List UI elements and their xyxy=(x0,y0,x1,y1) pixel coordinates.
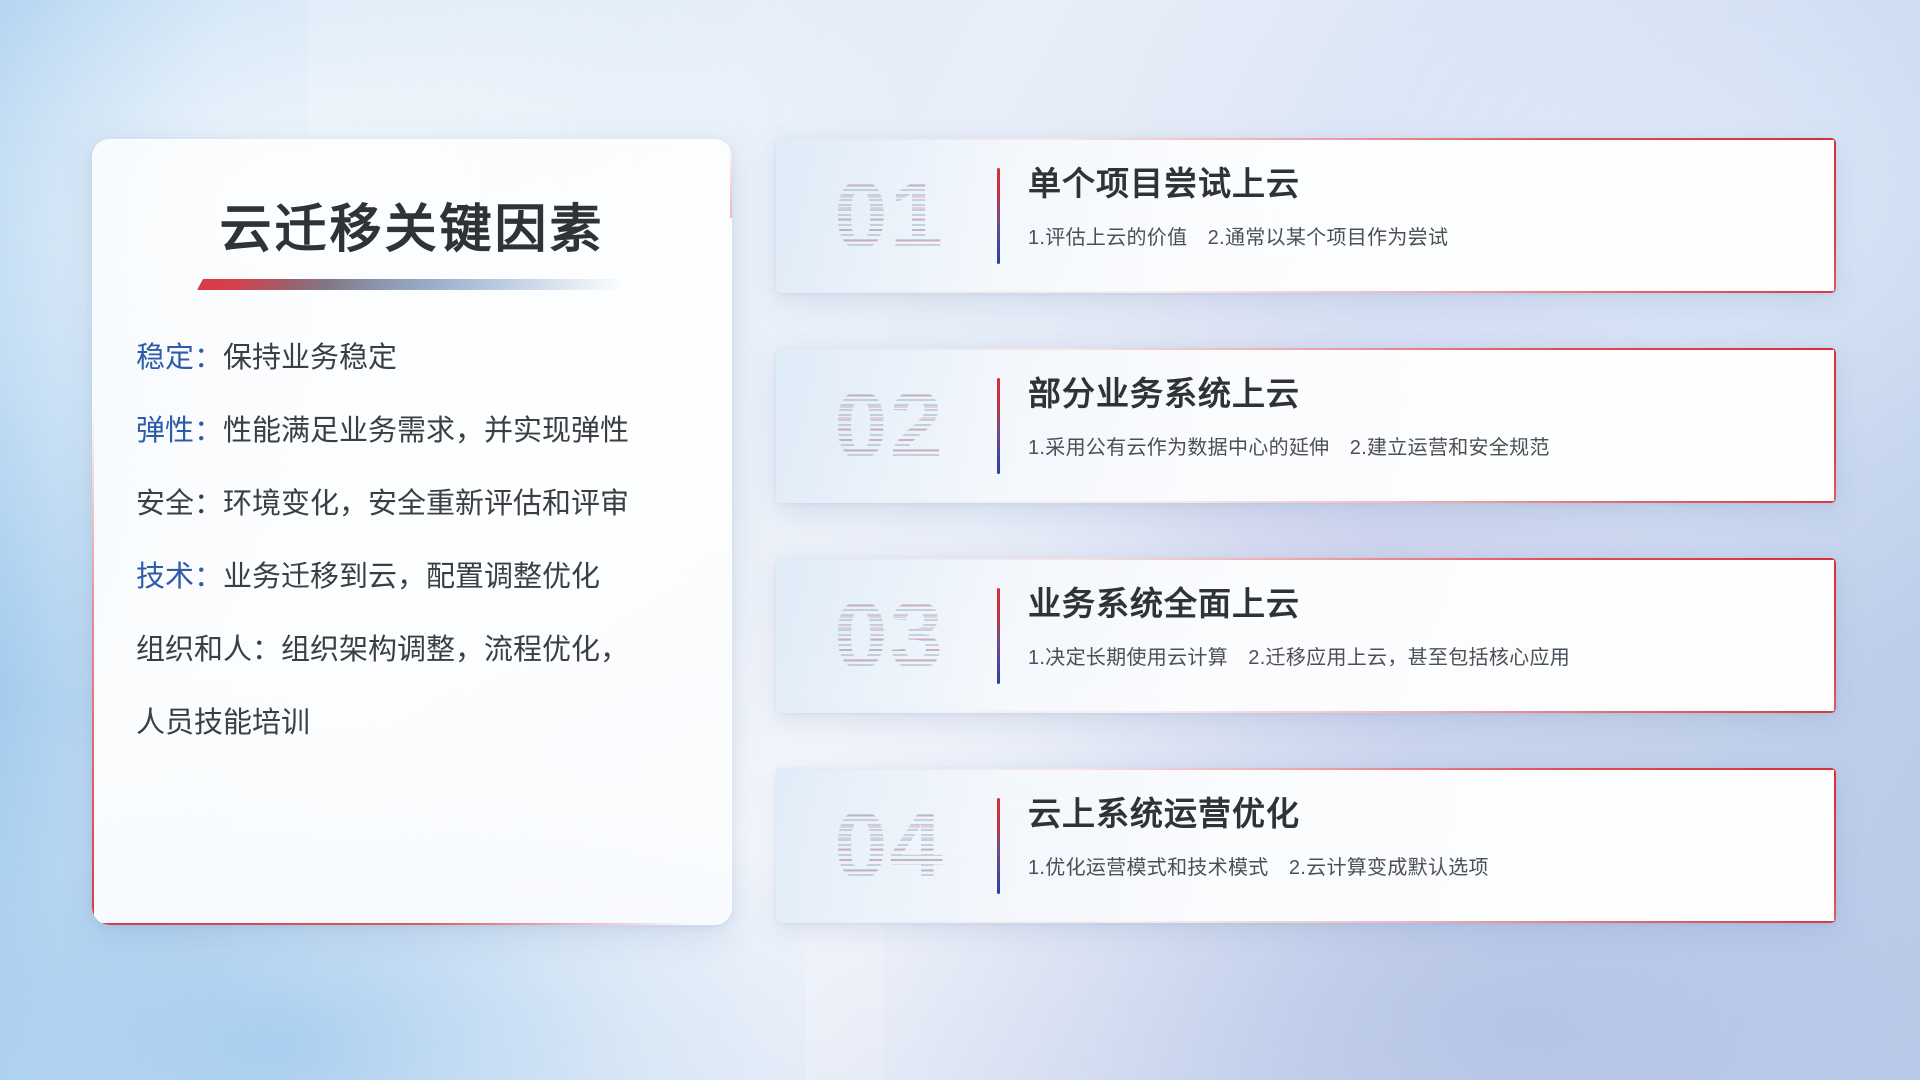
stage-card[interactable]: 04 04 云上系统运营优化 1.优化运营模式和技术模式 2.云计算变成默认选项 xyxy=(776,768,1836,923)
list-item-text: 人员技能培训 xyxy=(136,709,310,738)
card-gradient-divider xyxy=(997,168,1000,264)
card-red-top-edge xyxy=(776,768,1836,770)
migration-stage-cards: 01 01 单个项目尝试上云 1.评估上云的价值 2.通常以某个项目作为尝试 0… xyxy=(776,138,1836,923)
card-gradient-divider xyxy=(997,798,1000,894)
card-subtitle: 1.决定长期使用云计算 2.迁移应用上云，甚至包括核心应用 xyxy=(1028,641,1812,670)
card-red-right-edge xyxy=(1834,558,1836,713)
card-subtitle: 1.采用公有云作为数据中心的延伸 2.建立运营和安全规范 xyxy=(1028,431,1812,460)
card-red-top-edge xyxy=(776,558,1836,560)
list-item-text: 保持业务稳定 xyxy=(223,344,397,373)
title-gradient-underline xyxy=(197,279,627,290)
card-subtitle: 1.评估上云的价值 2.通常以某个项目作为尝试 xyxy=(1028,221,1812,250)
list-item-label: 安全： xyxy=(136,490,223,519)
list-item-text: 环境变化，安全重新评估和评审 xyxy=(223,490,629,519)
stage-number-ghost-red: 01 xyxy=(802,154,977,278)
list-item-label: 组织和人： xyxy=(136,636,281,665)
list-item-text: 性能满足业务需求，并实现弹性 xyxy=(223,417,629,446)
stage-number-ghost-red: 03 xyxy=(802,574,977,698)
list-item: 技术： 业务迁移到云，配置调整优化 xyxy=(136,563,688,636)
card-title: 云上系统运营优化 xyxy=(1028,794,1812,834)
card-title: 单个项目尝试上云 xyxy=(1028,164,1812,204)
card-body: 云上系统运营优化 1.优化运营模式和技术模式 2.云计算变成默认选项 xyxy=(1028,794,1812,880)
list-item: 安全： 环境变化，安全重新评估和评审 xyxy=(136,490,688,563)
card-gradient-divider xyxy=(997,588,1000,684)
stage-card[interactable]: 03 03 业务系统全面上云 1.决定长期使用云计算 2.迁移应用上云，甚至包括… xyxy=(776,558,1836,713)
card-red-top-edge xyxy=(776,138,1836,140)
card-red-right-edge xyxy=(1834,138,1836,293)
card-body: 业务系统全面上云 1.决定长期使用云计算 2.迁移应用上云，甚至包括核心应用 xyxy=(1028,584,1812,670)
card-body: 部分业务系统上云 1.采用公有云作为数据中心的延伸 2.建立运营和安全规范 xyxy=(1028,374,1812,460)
panel-red-bottom-accent xyxy=(92,923,694,925)
key-factors-list: 稳定： 保持业务稳定 弹性： 性能满足业务需求，并实现弹性 安全： 环境变化，安… xyxy=(92,344,732,782)
list-item-label: 稳定： xyxy=(136,344,223,373)
list-item: 弹性： 性能满足业务需求，并实现弹性 xyxy=(136,417,688,490)
stage-number-ghost-red: 02 xyxy=(802,364,977,488)
card-body: 单个项目尝试上云 1.评估上云的价值 2.通常以某个项目作为尝试 xyxy=(1028,164,1812,250)
key-factors-panel: 云迁移关键因素 稳定： 保持业务稳定 弹性： 性能满足业务需求，并实现弹性 安全… xyxy=(92,139,732,925)
card-red-bottom-edge xyxy=(776,291,1836,293)
stage-card[interactable]: 02 02 部分业务系统上云 1.采用公有云作为数据中心的延伸 2.建立运营和安… xyxy=(776,348,1836,503)
stage-card[interactable]: 01 01 单个项目尝试上云 1.评估上云的价值 2.通常以某个项目作为尝试 xyxy=(776,138,1836,293)
card-red-bottom-edge xyxy=(776,501,1836,503)
card-red-bottom-edge xyxy=(776,921,1836,923)
page-title: 云迁移关键因素 xyxy=(92,187,732,262)
list-item: 稳定： 保持业务稳定 xyxy=(136,344,688,417)
list-item-label: 技术： xyxy=(136,563,223,592)
card-title: 业务系统全面上云 xyxy=(1028,584,1812,624)
list-item-text: 业务迁移到云，配置调整优化 xyxy=(223,563,600,592)
card-subtitle: 1.优化运营模式和技术模式 2.云计算变成默认选项 xyxy=(1028,851,1812,880)
card-red-right-edge xyxy=(1834,768,1836,923)
list-item: 组织和人： 组织架构调整，流程优化， xyxy=(136,636,688,709)
list-item-text: 组织架构调整，流程优化， xyxy=(281,636,629,665)
card-gradient-divider xyxy=(997,378,1000,474)
card-red-right-edge xyxy=(1834,348,1836,503)
card-red-bottom-edge xyxy=(776,711,1836,713)
list-item-continuation: 人员技能培训 xyxy=(136,709,688,782)
card-title: 部分业务系统上云 xyxy=(1028,374,1812,414)
stage-number-ghost-red: 04 xyxy=(802,784,977,908)
list-item-label: 弹性： xyxy=(136,417,223,446)
card-red-top-edge xyxy=(776,348,1836,350)
